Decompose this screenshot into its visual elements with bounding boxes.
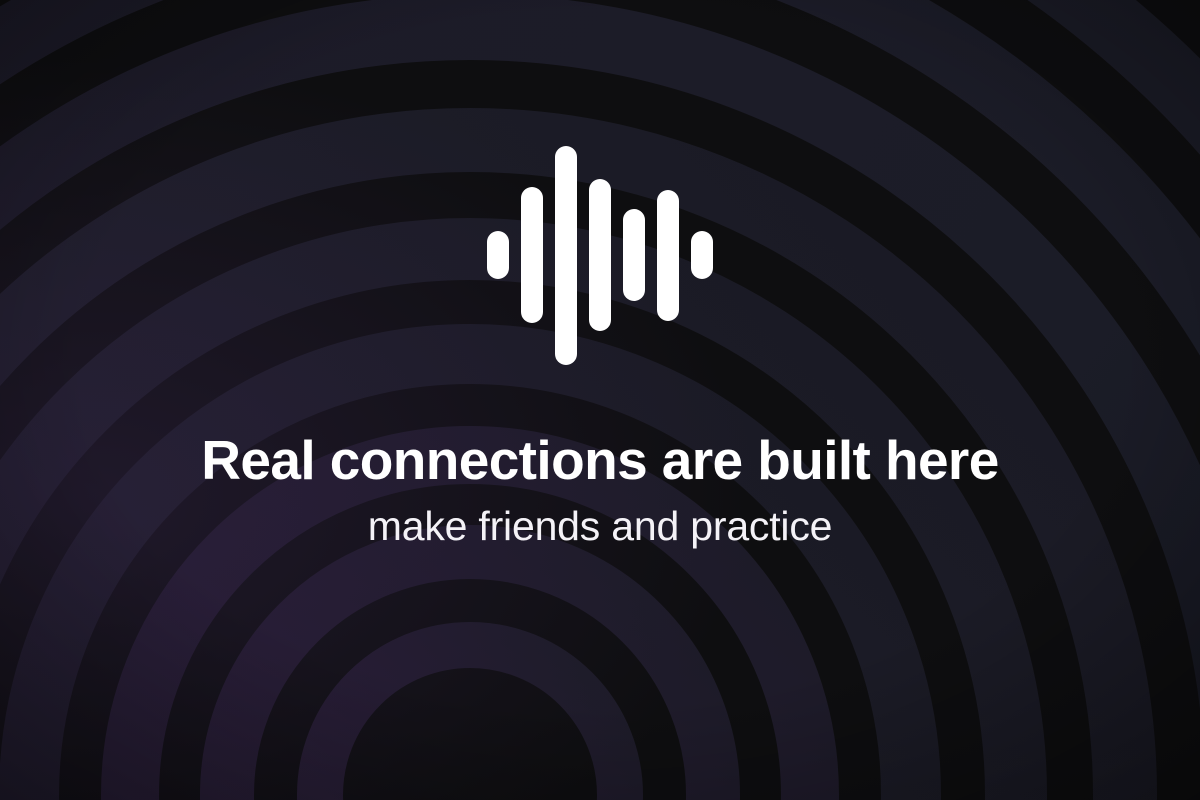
audio-waveform-icon [487,140,713,370]
waveform-bar [589,179,611,331]
waveform-bar [657,190,679,321]
waveform-bar [691,231,713,279]
promo-banner: Real connections are built here make fri… [0,0,1200,800]
waveform-bar [521,187,543,323]
hero-subtitle: make friends and practice [368,504,832,549]
waveform-bar [555,146,577,365]
hero-content: Real connections are built here make fri… [0,0,1200,800]
hero-title: Real connections are built here [201,432,998,490]
waveform-bar [487,231,509,279]
waveform-bar [623,209,645,301]
